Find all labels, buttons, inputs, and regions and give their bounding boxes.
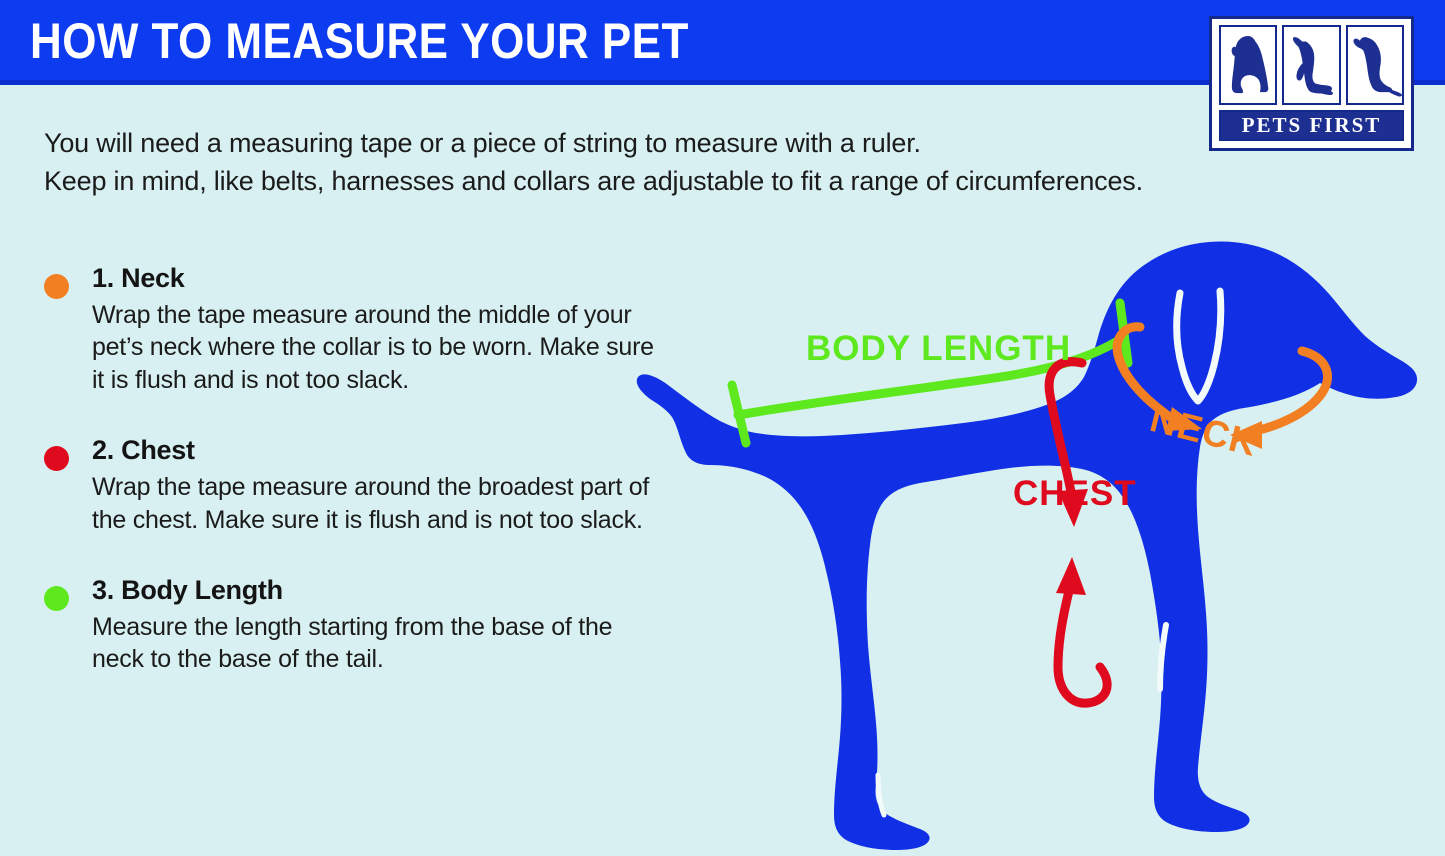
intro-text: You will need a measuring tape or a piec…: [44, 124, 1204, 201]
step-body-body-length: Measure the length starting from the bas…: [92, 611, 658, 676]
label-body-length: BODY LENGTH: [806, 329, 1071, 368]
measurement-steps-list: 1. Neck Wrap the tape measure around the…: [38, 262, 658, 714]
step-item-body-length: 3. Body Length Measure the length starti…: [38, 574, 658, 676]
dog-howling-silhouette-icon: [1282, 25, 1340, 105]
step-body-chest: Wrap the tape measure around the broades…: [92, 471, 658, 536]
dog-measurement-diagram: BODY LENGTH NECK CHEST: [628, 215, 1445, 856]
bullet-body-length-icon: [44, 586, 69, 611]
dog-sitting-silhouette-icon: [1219, 25, 1277, 105]
step-body-neck: Wrap the tape measure around the middle …: [92, 299, 658, 397]
step-heading-body-length: 3. Body Length: [92, 574, 658, 608]
logo-wordmark: PETS FIRST: [1242, 115, 1382, 136]
intro-line-1: You will need a measuring tape or a piec…: [44, 124, 1204, 162]
logo-wordmark-bar: PETS FIRST: [1219, 110, 1404, 141]
pet-measuring-infographic: HOW TO MEASURE YOUR PET: [0, 0, 1445, 856]
intro-line-2: Keep in mind, like belts, harnesses and …: [44, 162, 1204, 200]
brand-logo: PETS FIRST: [1209, 16, 1414, 151]
step-item-neck: 1. Neck Wrap the tape measure around the…: [38, 262, 658, 396]
step-heading-chest: 2. Chest: [92, 434, 658, 468]
bullet-neck-icon: [44, 274, 69, 299]
page-title: HOW TO MEASURE YOUR PET: [30, 12, 689, 70]
label-chest: CHEST: [1013, 474, 1137, 513]
bullet-chest-icon: [44, 446, 69, 471]
logo-icon-row: [1219, 25, 1404, 105]
step-heading-neck: 1. Neck: [92, 262, 658, 296]
dog-sitting-alert-silhouette-icon: [1346, 25, 1404, 105]
step-item-chest: 2. Chest Wrap the tape measure around th…: [38, 434, 658, 536]
